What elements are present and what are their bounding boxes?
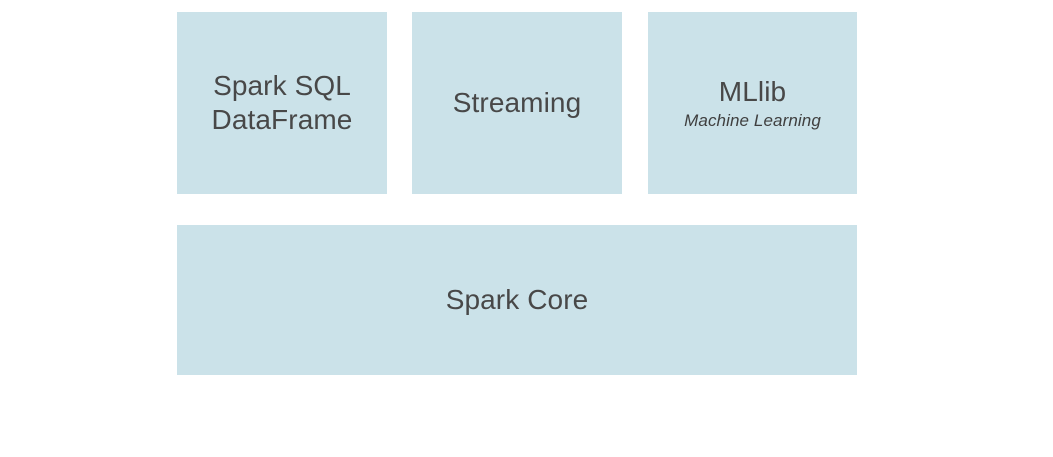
layer-title-mllib: MLlib bbox=[719, 75, 786, 109]
layer-title-spark-core: Spark Core bbox=[446, 283, 589, 317]
layer-subtitle-mllib: Machine Learning bbox=[684, 110, 821, 132]
layer-box-streaming[interactable]: Streaming bbox=[412, 12, 622, 194]
layer-title-streaming: Streaming bbox=[453, 86, 582, 120]
layer-box-mllib[interactable]: MLlib Machine Learning bbox=[648, 12, 857, 194]
layer-box-spark-sql[interactable]: Spark SQL DataFrame bbox=[177, 12, 387, 194]
spark-stack-diagram: Spark SQL DataFrame Streaming MLlib Mach… bbox=[0, 0, 1053, 457]
layer-title-spark-sql: Spark SQL DataFrame bbox=[212, 69, 353, 137]
layer-box-spark-core[interactable]: Spark Core bbox=[177, 225, 857, 375]
